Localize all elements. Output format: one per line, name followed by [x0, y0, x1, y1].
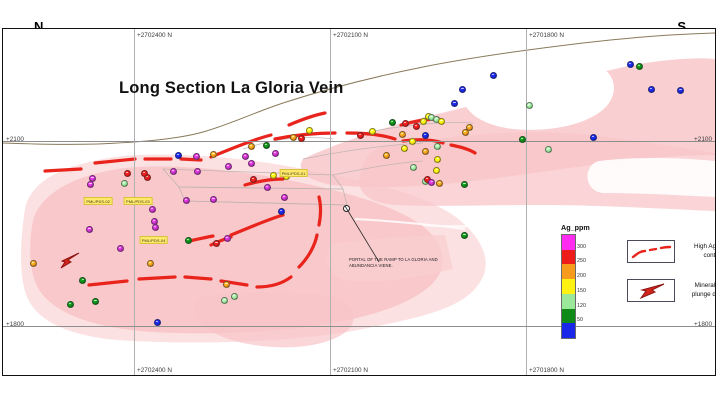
- legend-title-ag-ppm: Ag_ppm: [561, 223, 590, 232]
- legend-line-2: contour: [679, 251, 716, 260]
- ramp-tick-label: 120: [577, 303, 586, 309]
- legend-swatch-high-ag-grade-contour: [627, 240, 675, 263]
- map-frame: +2702400 N +2702100 N +2701800 N +270240…: [2, 28, 716, 376]
- legend-line-1: Mineralization: [679, 281, 716, 290]
- ramp-segment: [562, 323, 575, 338]
- ramp-tick-label: 300: [577, 244, 586, 250]
- long-section-map-figure: N S: [0, 0, 720, 405]
- ramp-tick-label: 250: [577, 258, 586, 264]
- ramp-tick-label: 150: [577, 288, 586, 294]
- ramp-tick-label: 50: [577, 317, 583, 323]
- ramp-segment: [562, 235, 575, 250]
- legend-line-1: High Ag grade: [679, 242, 716, 251]
- legend-text-mineralization-plunge: Mineralization plunge direction: [679, 281, 716, 299]
- ramp-segment: [562, 250, 575, 265]
- legend-text-high-ag-grade-contour: High Ag grade contour: [679, 242, 716, 260]
- legend-swatch-mineralization-plunge: [627, 279, 675, 302]
- drill-hole-label: PML/PDS-02: [84, 197, 113, 205]
- portal-annotation-text: PORTAL OF THE RAMP TO LA GLORIA AND ABUN…: [349, 257, 449, 270]
- ramp-segment: [562, 294, 575, 309]
- ag-ppm-color-ramp: [561, 234, 576, 339]
- ramp-tick-label: 200: [577, 273, 586, 279]
- ramp-segment: [562, 309, 575, 324]
- legend: Ag_ppm 30025020015012050 High Ag grade c…: [539, 223, 715, 338]
- ramp-segment: [562, 279, 575, 294]
- drill-hole-label: PML/PDS-01: [279, 169, 308, 177]
- legend-line-2: plunge direction: [679, 290, 716, 299]
- drill-hole-label: PML/PDS-04: [139, 236, 168, 244]
- ramp-segment: [562, 264, 575, 279]
- drill-hole-label: PML/PDS-03: [124, 197, 153, 205]
